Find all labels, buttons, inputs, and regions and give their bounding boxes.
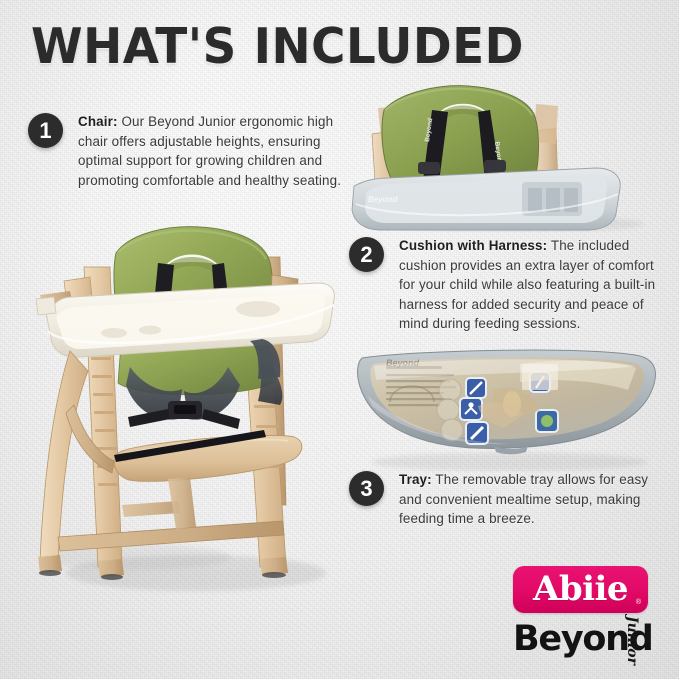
feature-text-3: Tray: The removable tray allows for easy… xyxy=(399,470,654,529)
step-badge-1: 1 xyxy=(28,113,63,148)
feature-heading-3: Tray: xyxy=(399,472,432,487)
brand-logo: Abiie ® Beyond Junior xyxy=(513,566,663,663)
cushion-illustration: Beyond Beyond Beyond xyxy=(344,84,674,232)
feature-heading-2: Cushion with Harness: xyxy=(399,238,547,253)
abiie-logo-pill: Abiie ® xyxy=(513,566,648,613)
feature-item-3: 3 Tray: The removable tray allows for ea… xyxy=(349,470,654,529)
feature-text-1: Chair: Our Beyond Junior ergonomic high … xyxy=(78,112,343,190)
step-badge-3: 3 xyxy=(349,471,384,506)
cushion-with-harness-photo: Beyond Beyond Beyond xyxy=(344,84,674,232)
feature-body-1: Our Beyond Junior ergonomic high chair o… xyxy=(78,114,341,188)
infographic-page: WHAT'S INCLUDED xyxy=(0,0,679,679)
feature-item-1: 1 Chair: Our Beyond Junior ergonomic hig… xyxy=(28,112,343,190)
page-title: WHAT'S INCLUDED xyxy=(31,22,524,72)
junior-wordmark: Junior xyxy=(625,616,639,665)
registered-trademark-icon: ® xyxy=(636,599,641,606)
feature-item-2: 2 Cushion with Harness: The included cus… xyxy=(349,236,671,334)
feature-body-3: The removable tray allows for easy and c… xyxy=(399,472,648,526)
high-chair-illustration xyxy=(18,205,348,600)
tray-illustration: Beyond xyxy=(344,344,674,472)
step-badge-2: 2 xyxy=(349,237,384,272)
high-chair-photo xyxy=(18,205,348,600)
feature-heading-1: Chair: xyxy=(78,114,118,129)
feature-text-2: Cushion with Harness: The included cushi… xyxy=(399,236,671,334)
tray-brand-label: Beyond xyxy=(368,195,398,204)
abiie-wordmark: Abiie xyxy=(533,572,628,606)
beyond-row: Beyond Junior xyxy=(513,618,663,662)
removable-tray-photo: Beyond xyxy=(344,344,674,472)
